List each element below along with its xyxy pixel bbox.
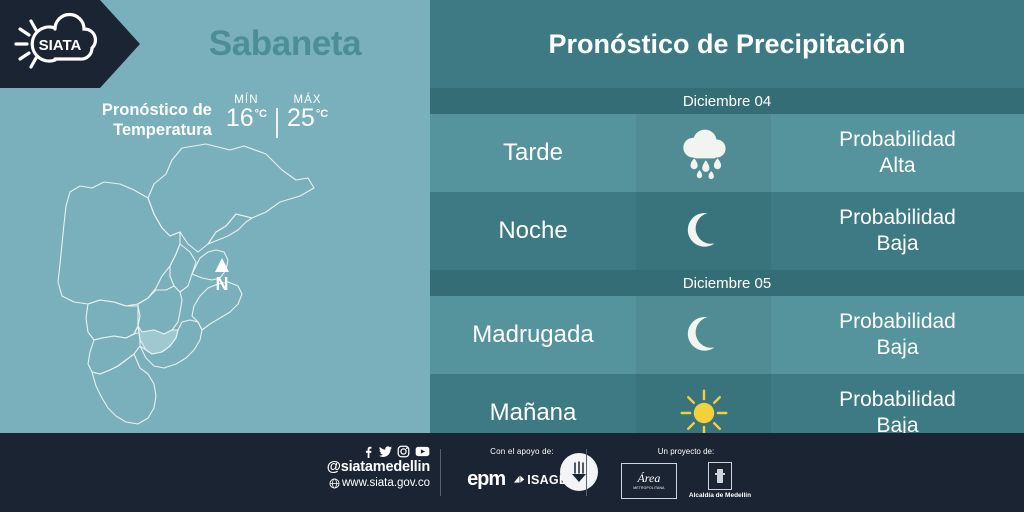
date-header-diciembre-05: Diciembre 05 — [430, 270, 1024, 296]
city-name: Sabaneta — [140, 0, 430, 88]
siata-logo: SIATA — [8, 12, 112, 76]
alcaldia-mark-icon — [708, 462, 732, 490]
footer-divider — [440, 449, 441, 496]
alcaldia-logo: Alcaldía de Medellín — [689, 462, 751, 499]
siata-logo-text: SIATA — [39, 37, 82, 54]
probability-line1: Probabilidad — [839, 206, 956, 229]
left-panel: SIATA Sabaneta Pronóstico de Temperatura… — [0, 0, 430, 433]
temperature-title: Pronóstico de Temperatura — [102, 92, 212, 140]
alcaldia-label: Alcaldía de Medellín — [689, 492, 751, 499]
project-caption: Un proyecto de: — [596, 447, 776, 456]
social-handle[interactable]: @siatamedellin — [314, 459, 430, 476]
area-metropolitana-logo: Área METROPOLITANA — [621, 463, 677, 499]
footer: @siatamedellin www.siata.gov.co Con el a… — [0, 433, 1024, 512]
project-logos: Área METROPOLITANA Alcaldía de Medellín — [596, 462, 776, 499]
probability-line2: Alta — [879, 154, 915, 177]
temperature-values: MÍN 16°C MÁX 25°C — [226, 92, 328, 138]
social-icons — [314, 445, 430, 458]
temperature-title-line1: Pronóstico de — [102, 101, 212, 119]
temperature-min: MÍN 16°C — [226, 94, 267, 131]
twitter-icon[interactable] — [379, 445, 392, 458]
temperature-title-line2: Temperatura — [113, 121, 212, 139]
temperature-max: MÁX 25°C — [287, 94, 328, 131]
forecast-probability: Probabilidad Alta — [771, 114, 1024, 192]
weather-forecast-infographic: SIATA Sabaneta Pronóstico de Temperatura… — [0, 0, 1024, 512]
facebook-icon[interactable] — [361, 445, 374, 458]
probability-line1: Probabilidad — [839, 388, 956, 411]
forecast-probability: Probabilidad Baja — [771, 192, 1024, 270]
moon-icon — [636, 192, 771, 270]
youtube-icon[interactable] — [415, 445, 430, 458]
probability-line2: Baja — [876, 336, 918, 359]
forecast-period: Madrugada — [430, 296, 636, 374]
moon-icon — [636, 296, 771, 374]
probability-line1: Probabilidad — [839, 128, 956, 151]
forecast-period: Noche — [430, 192, 636, 270]
temperature-max-unit: °C — [316, 108, 328, 120]
right-panel: Pronóstico de Precipitación Diciembre 04… — [430, 0, 1024, 433]
website-text: www.siata.gov.co — [342, 476, 430, 491]
probability-line1: Probabilidad — [839, 310, 956, 333]
precipitation-title: Pronóstico de Precipitación — [430, 0, 1024, 88]
instagram-icon[interactable] — [397, 445, 410, 458]
area-logo-text: Área — [637, 472, 660, 484]
forecast-probability: Probabilidad Baja — [771, 296, 1024, 374]
project-block: Un proyecto de: Área METROPOLITANA Alcal… — [596, 447, 776, 499]
footer-divider — [586, 449, 587, 496]
date-header-diciembre-04: Diciembre 04 — [430, 88, 1024, 114]
epm-logo: epm — [467, 468, 505, 491]
partner-circle-logo — [560, 453, 598, 491]
social-block: @siatamedellin www.siata.gov.co — [314, 445, 430, 491]
area-logo-subtitle: METROPOLITANA — [633, 486, 664, 490]
temperature-min-value: 16 — [226, 106, 254, 131]
aburra-valley-map: N — [30, 140, 370, 430]
forecast-period: Tarde — [430, 114, 636, 192]
forecast-row: Noche Probabilidad Baja — [430, 192, 1024, 270]
isagen-mark-icon — [514, 474, 525, 485]
logo-chevron-banner: SIATA — [0, 0, 140, 88]
probability-line2: Baja — [876, 232, 918, 255]
temperature-divider — [276, 108, 278, 138]
svg-text:N: N — [216, 274, 229, 294]
temperature-max-value: 25 — [287, 106, 315, 131]
forecast-row: Tarde — [430, 114, 1024, 192]
forecast-row: Madrugada Probabilidad Baja — [430, 296, 1024, 374]
website-line[interactable]: www.siata.gov.co — [314, 476, 430, 491]
temperature-min-unit: °C — [255, 108, 267, 120]
globe-icon — [329, 478, 340, 489]
rain-cloud-icon — [636, 114, 771, 192]
